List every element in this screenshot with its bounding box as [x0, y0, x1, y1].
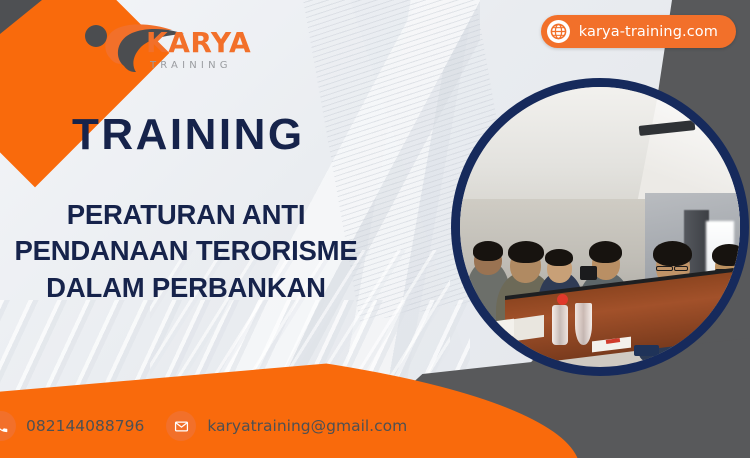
- contact-bar: 082144088796 karyatraining@gmail.com: [0, 411, 407, 441]
- eyebrow-heading: TRAINING: [72, 113, 305, 157]
- phone-in-hand: [580, 266, 597, 280]
- globe-icon: [547, 20, 570, 43]
- title-line-1: PERATURAN ANTI: [0, 197, 386, 233]
- phone-number: 082144088796: [26, 417, 144, 435]
- website-pill[interactable]: karya-training.com: [541, 15, 736, 48]
- phone-icon[interactable]: [0, 411, 16, 441]
- svg-text:KARYA: KARYA: [146, 26, 251, 59]
- title-line-3: DALAM PERBANKAN: [0, 270, 386, 306]
- page-title: PERATURAN ANTI PENDANAAN TERORISME DALAM…: [0, 197, 386, 306]
- svg-text:TRAINING: TRAINING: [149, 60, 232, 71]
- training-poster: KARYA TRAINING karya-training.com TRAINI…: [0, 0, 750, 458]
- title-line-2: PENDANAAN TERORISME: [0, 233, 386, 269]
- seminar-photo: [451, 78, 749, 376]
- email-address: karyatraining@gmail.com: [207, 417, 407, 435]
- website-url: karya-training.com: [579, 24, 718, 40]
- envelope-icon[interactable]: [166, 411, 196, 441]
- karya-training-logo[interactable]: KARYA TRAINING: [80, 14, 270, 78]
- seminar-photo-content: [460, 87, 740, 367]
